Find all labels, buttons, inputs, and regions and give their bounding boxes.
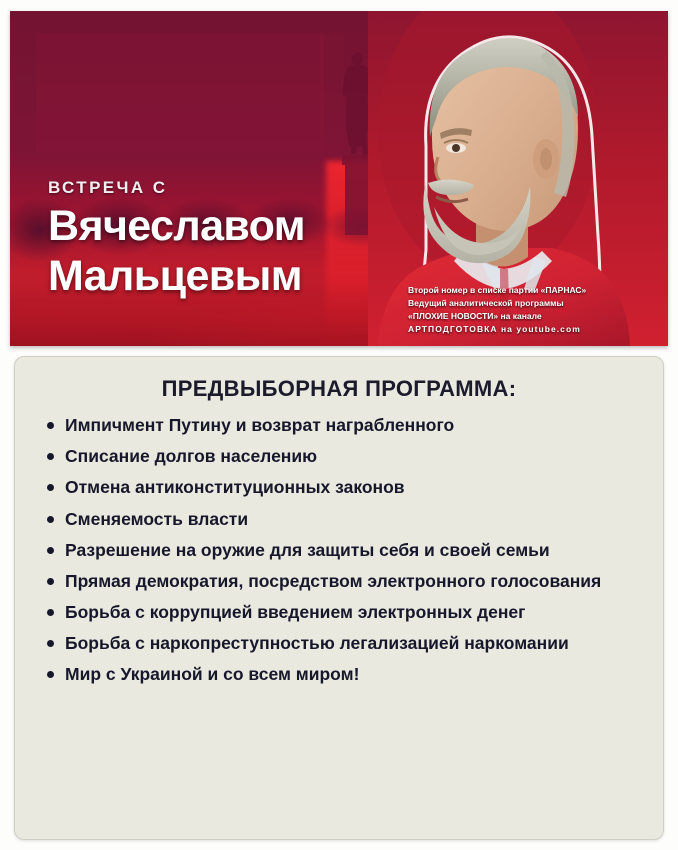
banner-name-line-2: Мальцевым [48, 255, 408, 298]
list-item: Борьба с наркопреступностью легализацией… [47, 633, 635, 654]
list-item-label: Сменяемость власти [65, 509, 248, 529]
banner-kicker: ВСТРЕЧА С [48, 179, 408, 196]
bullet-icon [47, 422, 54, 429]
program-title: ПРЕДВЫБОРНАЯ ПРОГРАММА: [15, 376, 663, 402]
campaign-banner: ВСТРЕЧА С Вячеславом Мальцевым [10, 11, 668, 346]
program-card: ПРЕДВЫБОРНАЯ ПРОГРАММА: Импичмент Путину… [14, 356, 664, 840]
list-item: Разрешение на оружие для защиты себя и с… [47, 540, 635, 561]
caption-line-3: «ПЛОХИЕ НОВОСТИ» на канале [408, 310, 664, 323]
bullet-icon [47, 578, 54, 585]
bullet-icon [47, 547, 54, 554]
list-item: Сменяемость власти [47, 509, 635, 530]
banner-caption: Второй номер в списке партии «ПАРНАС» Ве… [408, 284, 664, 336]
list-item: Списание долгов населению [47, 446, 635, 467]
banner-overlay-rectangle [36, 33, 324, 153]
list-item-label: Борьба с наркопреступностью легализацией… [65, 633, 569, 653]
caption-line-2: Ведущий аналитической программы [408, 297, 664, 310]
bullet-icon [47, 609, 54, 616]
list-item: Мир с Украиной и со всем миром! [47, 664, 635, 685]
poster-root: ВСТРЕЧА С Вячеславом Мальцевым [0, 0, 678, 850]
list-item-label: Борьба с коррупцией введением электронны… [65, 602, 525, 622]
list-item-label: Разрешение на оружие для защиты себя и с… [65, 540, 550, 560]
banner-name-line-1: Вячеславом [48, 205, 408, 248]
bullet-icon [47, 640, 54, 647]
list-item: Отмена антиконституционных законов [47, 477, 635, 498]
caption-line-4: АРТПОДГОТОВКА на youtube.com [408, 323, 664, 336]
list-item: Импичмент Путину и возврат награбленного [47, 415, 635, 436]
bullet-icon [47, 671, 54, 678]
list-item: Борьба с коррупцией введением электронны… [47, 602, 635, 623]
list-item-label: Мир с Украиной и со всем миром! [65, 664, 359, 684]
caption-line-1: Второй номер в списке партии «ПАРНАС» [408, 284, 664, 297]
list-item-label: Импичмент Путину и возврат награбленного [65, 415, 454, 435]
bullet-icon [47, 484, 54, 491]
banner-headline: ВСТРЕЧА С Вячеславом Мальцевым [48, 179, 408, 297]
bullet-icon [47, 516, 54, 523]
list-item: Прямая демократия, посредством электронн… [47, 571, 635, 592]
list-item-label: Отмена антиконституционных законов [65, 477, 405, 497]
list-item-label: Прямая демократия, посредством электронн… [65, 571, 601, 591]
program-list: Импичмент Путину и возврат награбленного… [15, 415, 663, 686]
bullet-icon [47, 453, 54, 460]
list-item-label: Списание долгов населению [65, 446, 317, 466]
